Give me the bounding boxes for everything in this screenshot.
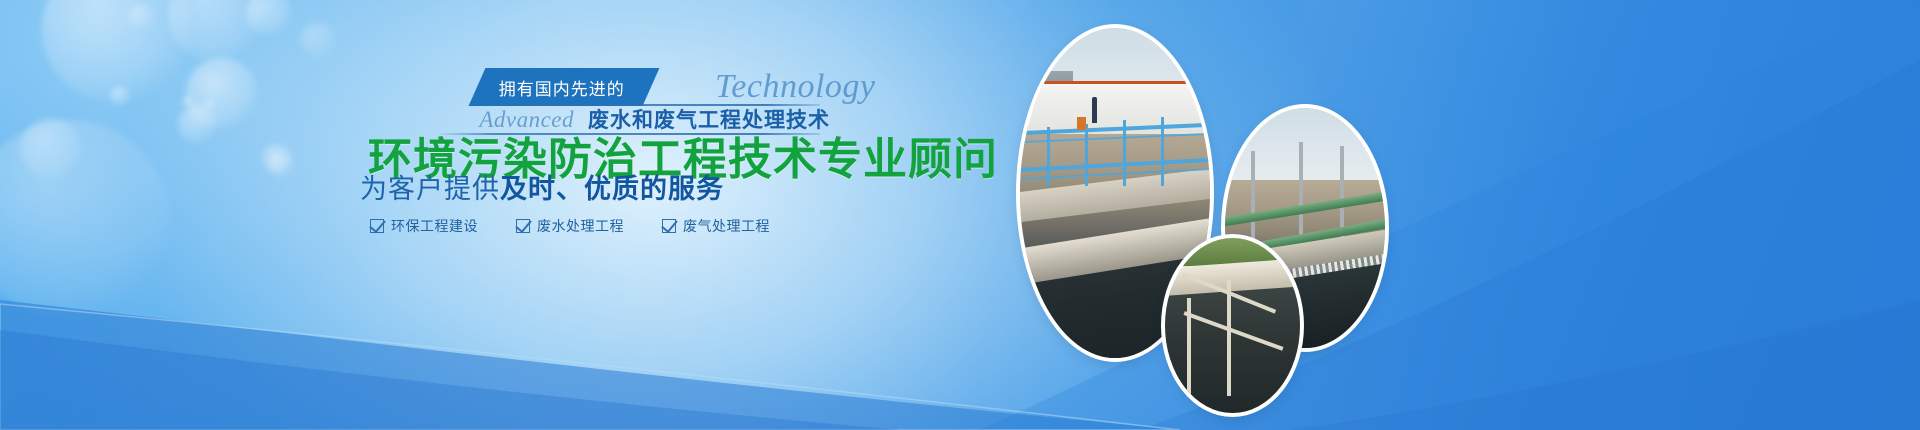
tagline-row: 拥有国内先进的 Technology bbox=[465, 68, 876, 106]
subtitle-chinese: 废水和废气工程处理技术 bbox=[588, 104, 830, 134]
promo-banner: 拥有国内先进的 Technology Advanced 废水和废气工程处理技术 … bbox=[0, 0, 1920, 430]
english-technology: Technology bbox=[715, 68, 876, 106]
english-advanced: Advanced bbox=[479, 107, 574, 133]
check-icon bbox=[516, 219, 530, 233]
photo-mast bbox=[1299, 142, 1303, 243]
feature-label: 废气处理工程 bbox=[683, 216, 770, 236]
tagline-prefix: 为客户提供 bbox=[360, 174, 500, 205]
photo-rail-post bbox=[1161, 117, 1164, 186]
photo-worker bbox=[1092, 97, 1097, 123]
photo-sky bbox=[1225, 108, 1385, 190]
photo-bin bbox=[1077, 117, 1086, 130]
photo-mast bbox=[1251, 151, 1255, 247]
photo-cluster bbox=[1000, 0, 1920, 430]
feature-list: 环保工程建设 废水处理工程 废气处理工程 bbox=[370, 216, 770, 236]
photo-rail-post bbox=[1047, 127, 1050, 186]
tagline-emphasis: 及时、优质的服务 bbox=[500, 174, 724, 205]
check-icon bbox=[662, 219, 676, 233]
feature-label: 废水处理工程 bbox=[537, 216, 624, 236]
photo-rail-post bbox=[1085, 124, 1088, 187]
subtitle-row: Advanced 废水和废气工程处理技术 bbox=[430, 104, 830, 134]
service-tagline: 为客户提供及时、优质的服务 bbox=[360, 172, 724, 208]
feature-item-waste-gas: 废气处理工程 bbox=[662, 216, 770, 236]
feature-item-environmental: 环保工程建设 bbox=[370, 216, 478, 236]
feature-item-wastewater: 废水处理工程 bbox=[516, 216, 624, 236]
photo-beam bbox=[1227, 280, 1231, 396]
advanced-tech-chip: 拥有国内先进的 bbox=[469, 68, 660, 106]
photo-aeration-tank bbox=[1165, 238, 1300, 413]
copy-block: 拥有国内先进的 Technology Advanced 废水和废气工程处理技术 … bbox=[0, 0, 1040, 430]
photo-rail-post bbox=[1123, 120, 1126, 186]
check-icon bbox=[370, 219, 384, 233]
feature-label: 环保工程建设 bbox=[391, 216, 478, 236]
photo-beam bbox=[1187, 298, 1191, 396]
chip-label: 拥有国内先进的 bbox=[499, 75, 625, 100]
